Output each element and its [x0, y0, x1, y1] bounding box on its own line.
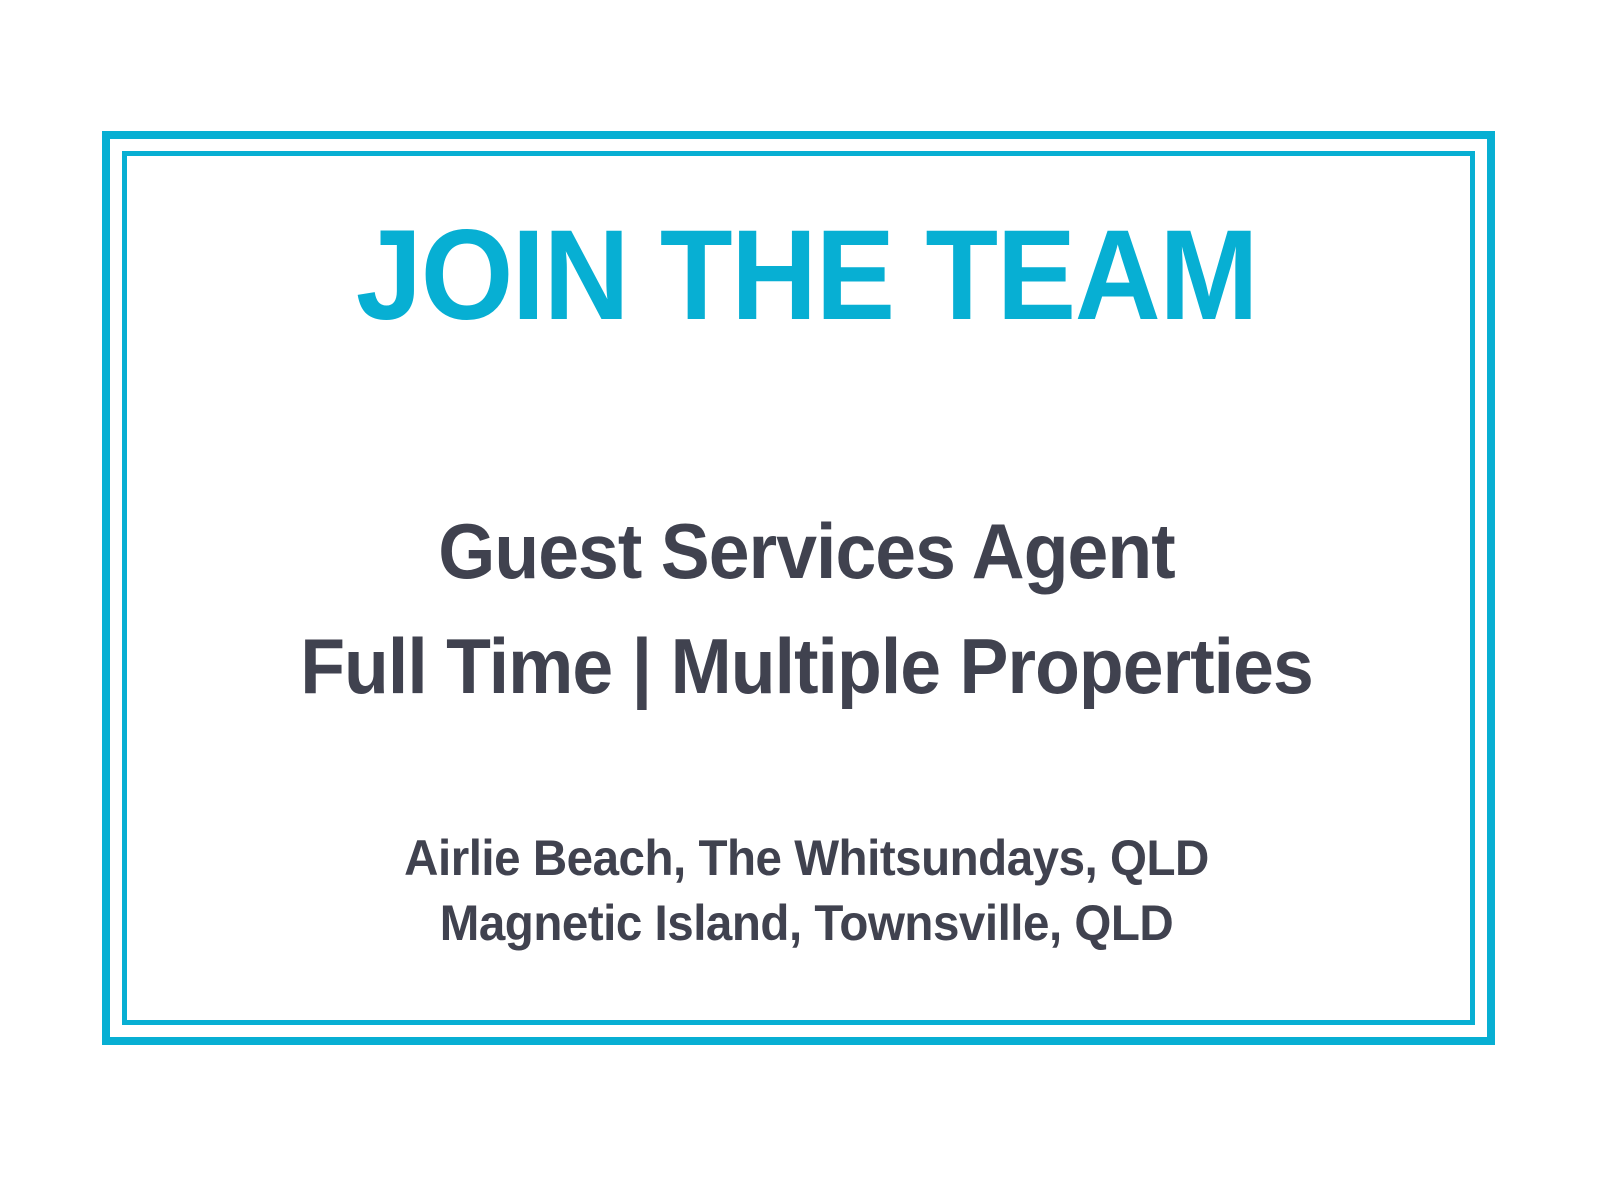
- role-heading: Guest Services Agent Full Time | Multipl…: [152, 494, 1461, 724]
- location-item: Airlie Beach, The Whitsundays, QLD: [145, 826, 1468, 891]
- decorative-outer-border: JOIN THE TEAM Guest Services Agent Full …: [102, 131, 1495, 1045]
- job-advert-poster: JOIN THE TEAM Guest Services Agent Full …: [0, 0, 1600, 1200]
- location-item: Magnetic Island, Townsville, QLD: [145, 891, 1468, 956]
- locations-list: Airlie Beach, The Whitsundays, QLD Magne…: [145, 826, 1468, 956]
- poster-content: JOIN THE TEAM Guest Services Agent Full …: [110, 139, 1503, 1053]
- page-title: JOIN THE TEAM: [159, 212, 1454, 340]
- role-employment-type: Full Time | Multiple Properties: [152, 609, 1461, 724]
- role-title: Guest Services Agent: [152, 494, 1461, 609]
